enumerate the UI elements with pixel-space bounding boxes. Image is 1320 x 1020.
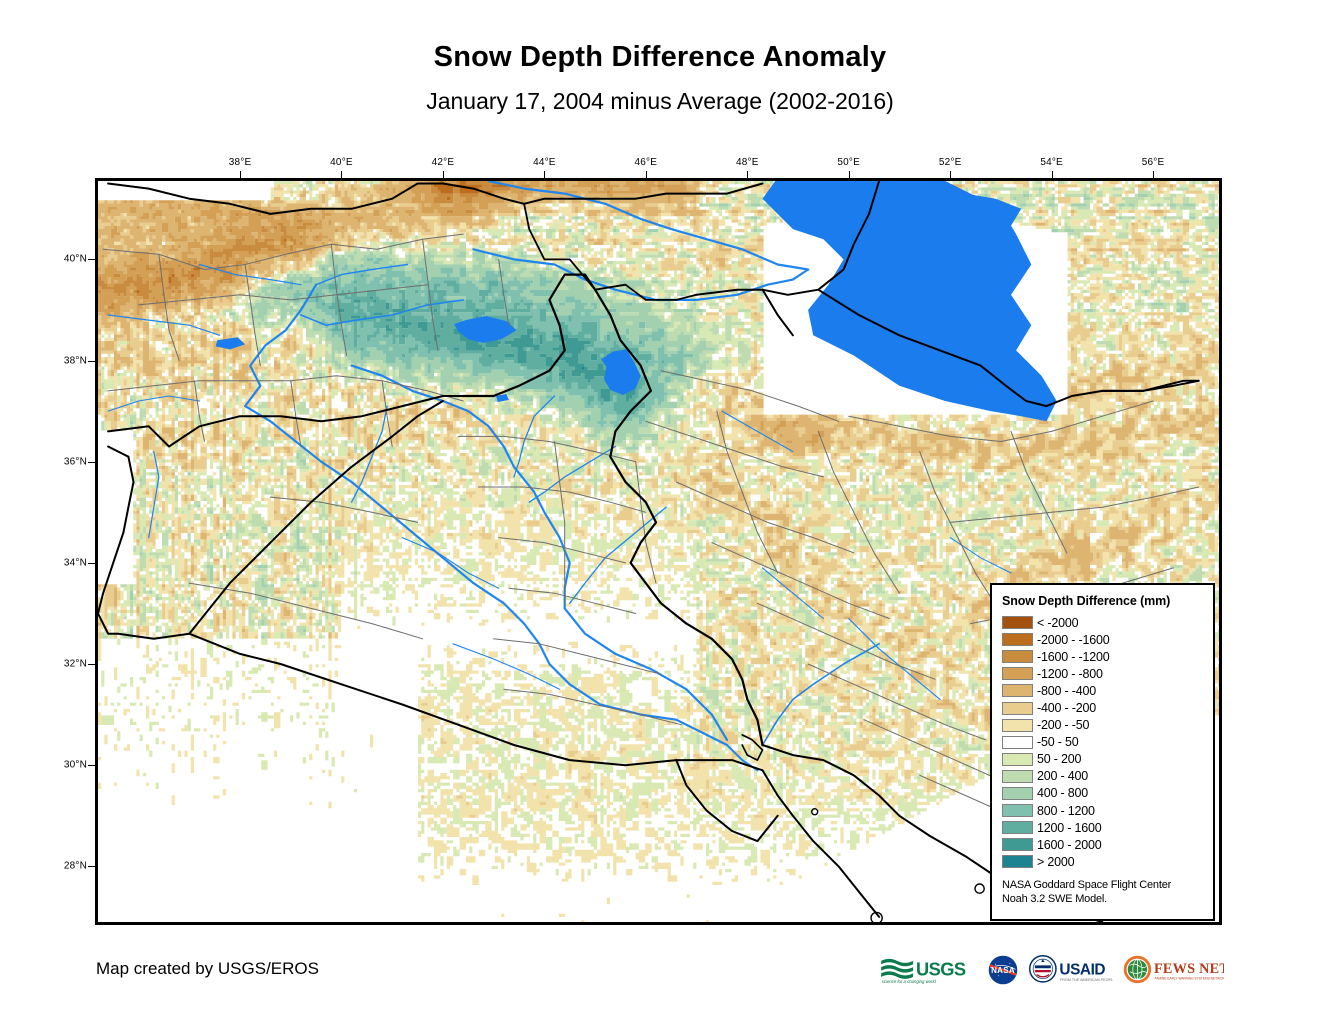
lon-tick-mark bbox=[341, 171, 342, 178]
legend-items: < -2000-2000 - -1600-1600 - -1200-1200 -… bbox=[1002, 614, 1213, 870]
lon-tick-mark bbox=[646, 171, 647, 178]
legend-swatch bbox=[1002, 736, 1033, 749]
legend-swatch bbox=[1002, 838, 1033, 851]
svg-text:science for a changing world: science for a changing world bbox=[882, 979, 937, 984]
page-title: Snow Depth Difference Anomaly bbox=[0, 42, 1320, 74]
legend-swatch bbox=[1002, 855, 1033, 868]
legend-label: -50 - 50 bbox=[1037, 735, 1078, 749]
legend-row: -400 - -200 bbox=[1002, 699, 1213, 716]
legend-label: -1200 - -800 bbox=[1037, 667, 1103, 681]
legend-label: -2000 - -1600 bbox=[1037, 633, 1109, 647]
title-block: Snow Depth Difference Anomaly January 17… bbox=[0, 0, 1320, 114]
legend-row: 1600 - 2000 bbox=[1002, 836, 1213, 853]
lon-tick-label: 56°E bbox=[1142, 157, 1165, 168]
legend-label: 1600 - 2000 bbox=[1037, 838, 1102, 852]
legend-label: -1600 - -1200 bbox=[1037, 650, 1109, 664]
lat-tick-label: 32°N bbox=[43, 659, 87, 670]
legend-row: > 2000 bbox=[1002, 853, 1213, 870]
anomaly-class-patch bbox=[581, 367, 584, 370]
lon-tick-label: 44°E bbox=[533, 157, 556, 168]
fewsnet-logo: FEWS NET FAMINE EARLY WARNING SYSTEMS NE… bbox=[1122, 954, 1224, 986]
lon-tick-mark bbox=[544, 171, 545, 178]
lat-tick-label: 30°N bbox=[43, 760, 87, 771]
lat-tick-label: 34°N bbox=[43, 557, 87, 568]
legend-swatch bbox=[1002, 633, 1033, 646]
lat-tick-label: 38°N bbox=[43, 355, 87, 366]
legend-row: -2000 - -1600 bbox=[1002, 631, 1213, 648]
legend-credit: NASA Goddard Space Flight Center Noah 3.… bbox=[1002, 879, 1213, 907]
lon-tick-mark bbox=[950, 171, 951, 178]
legend-label: > 2000 bbox=[1037, 855, 1074, 869]
lat-tick-label: 40°N bbox=[43, 254, 87, 265]
legend-swatch bbox=[1002, 684, 1033, 697]
legend-credit-line2: Noah 3.2 SWE Model. bbox=[1002, 893, 1213, 907]
lon-tick-mark bbox=[443, 171, 444, 178]
lon-tick-label: 38°E bbox=[229, 157, 252, 168]
legend: Snow Depth Difference (mm) < -2000-2000 … bbox=[990, 583, 1215, 921]
svg-text:USGS: USGS bbox=[916, 959, 966, 980]
legend-label: -800 - -400 bbox=[1037, 684, 1096, 698]
legend-row: -1200 - -800 bbox=[1002, 665, 1213, 682]
legend-row: 800 - 1200 bbox=[1002, 802, 1213, 819]
lon-tick-mark bbox=[1153, 171, 1154, 178]
legend-label: 50 - 200 bbox=[1037, 752, 1081, 766]
lat-tick-mark bbox=[88, 866, 95, 867]
lon-tick-label: 54°E bbox=[1040, 157, 1063, 168]
svg-text:NASA: NASA bbox=[991, 966, 1015, 975]
legend-row: -800 - -400 bbox=[1002, 682, 1213, 699]
legend-label: < -2000 bbox=[1037, 616, 1078, 630]
legend-row: 200 - 400 bbox=[1002, 768, 1213, 785]
legend-swatch bbox=[1002, 650, 1033, 663]
legend-label: 800 - 1200 bbox=[1037, 804, 1095, 818]
legend-row: -50 - 50 bbox=[1002, 734, 1213, 751]
legend-row: -1600 - -1200 bbox=[1002, 648, 1213, 665]
legend-title: Snow Depth Difference (mm) bbox=[1002, 594, 1213, 608]
lat-tick-mark bbox=[88, 765, 95, 766]
lon-tick-label: 42°E bbox=[432, 157, 455, 168]
svg-text:FEWS NET: FEWS NET bbox=[1154, 961, 1224, 977]
legend-label: -200 - -50 bbox=[1037, 718, 1089, 732]
svg-text:FAMINE EARLY WARNING SYSTEMS N: FAMINE EARLY WARNING SYSTEMS NETWORK bbox=[1155, 977, 1224, 981]
legend-row: 400 - 800 bbox=[1002, 785, 1213, 802]
lat-tick-label: 28°N bbox=[43, 861, 87, 872]
legend-row: -200 - -50 bbox=[1002, 717, 1213, 734]
lon-tick-label: 48°E bbox=[736, 157, 759, 168]
lon-tick-mark bbox=[849, 171, 850, 178]
usaid-logo: USAID FROM THE AMERICAN PEOPLE bbox=[1028, 954, 1114, 986]
lon-tick-mark bbox=[240, 171, 241, 178]
legend-credit-line1: NASA Goddard Space Flight Center bbox=[1002, 879, 1213, 893]
lon-tick-label: 46°E bbox=[635, 157, 658, 168]
logo-bar: USGS science for a changing world NASA U… bbox=[880, 953, 1224, 987]
legend-row: < -2000 bbox=[1002, 614, 1213, 631]
legend-swatch bbox=[1002, 804, 1033, 817]
svg-text:USAID: USAID bbox=[1059, 962, 1105, 979]
legend-row: 1200 - 1600 bbox=[1002, 819, 1213, 836]
usgs-logo: USGS science for a changing world bbox=[880, 954, 977, 986]
footer-credit: Map created by USGS/EROS bbox=[96, 959, 319, 979]
lon-tick-mark bbox=[747, 171, 748, 178]
legend-swatch bbox=[1002, 821, 1033, 834]
lon-tick-mark bbox=[1052, 171, 1053, 178]
legend-swatch bbox=[1002, 616, 1033, 629]
lat-tick-mark bbox=[88, 563, 95, 564]
lat-tick-label: 36°N bbox=[43, 456, 87, 467]
legend-label: 400 - 800 bbox=[1037, 786, 1088, 800]
legend-swatch bbox=[1002, 719, 1033, 732]
svg-text:FROM THE AMERICAN PEOPLE: FROM THE AMERICAN PEOPLE bbox=[1060, 978, 1114, 982]
legend-label: 1200 - 1600 bbox=[1037, 821, 1102, 835]
legend-swatch bbox=[1002, 770, 1033, 783]
legend-swatch bbox=[1002, 787, 1033, 800]
lat-tick-mark bbox=[88, 462, 95, 463]
lon-tick-label: 50°E bbox=[837, 157, 860, 168]
lon-tick-label: 40°E bbox=[330, 157, 353, 168]
nasa-logo: NASA bbox=[987, 954, 1019, 986]
lat-tick-mark bbox=[88, 361, 95, 362]
legend-swatch bbox=[1002, 667, 1033, 680]
legend-label: 200 - 400 bbox=[1037, 769, 1088, 783]
legend-swatch bbox=[1002, 753, 1033, 766]
lat-tick-mark bbox=[88, 664, 95, 665]
legend-label: -400 - -200 bbox=[1037, 701, 1096, 715]
legend-swatch bbox=[1002, 702, 1033, 715]
legend-row: 50 - 200 bbox=[1002, 751, 1213, 768]
page-subtitle: January 17, 2004 minus Average (2002-201… bbox=[0, 89, 1320, 114]
lon-tick-label: 52°E bbox=[939, 157, 962, 168]
lat-tick-mark bbox=[88, 259, 95, 260]
